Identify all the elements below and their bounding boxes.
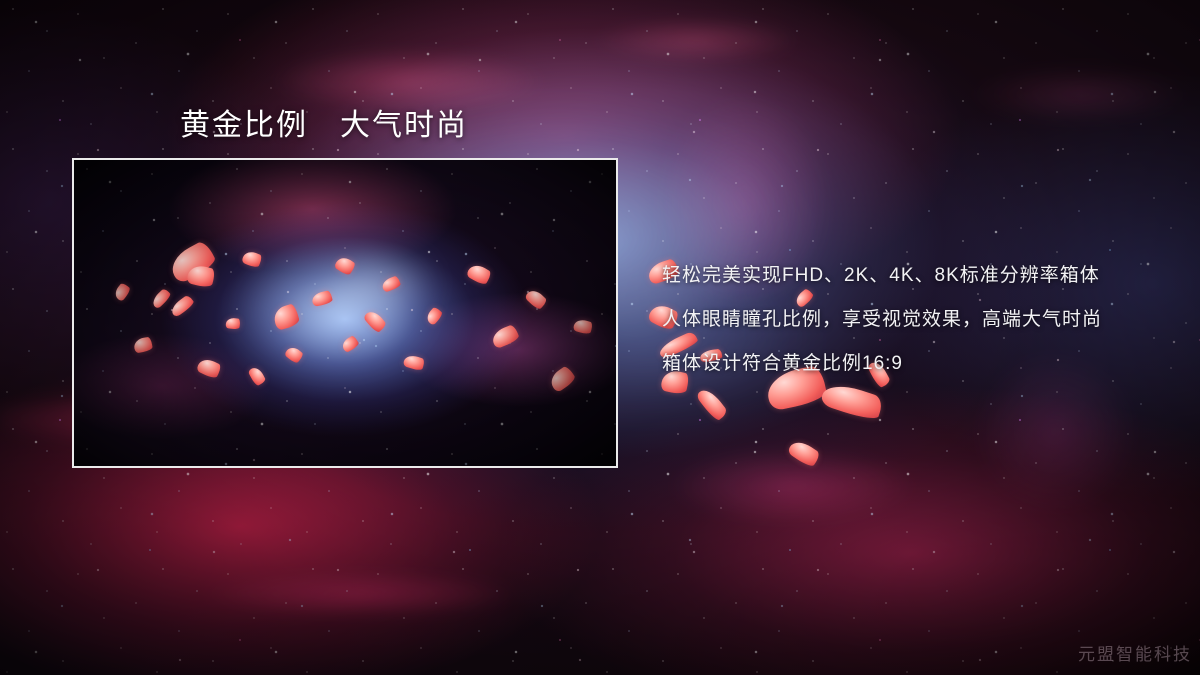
background-petal xyxy=(787,437,822,469)
slide-title: 黄金比例 大气时尚 xyxy=(180,100,468,144)
body-text-line: 人体眼睛瞳孔比例，享受视觉效果，高端大气时尚 xyxy=(662,298,1162,342)
body-text-line: 轻松完美实现FHD、2K、4K、8K标准分辨率箱体 xyxy=(662,254,1162,298)
frame-vignette xyxy=(74,160,616,466)
body-text-block: 轻松完美实现FHD、2K、4K、8K标准分辨率箱体 人体眼睛瞳孔比例，享受视觉效… xyxy=(662,254,1162,386)
body-text-line: 箱体设计符合黄金比例16:9 xyxy=(662,342,1162,386)
picture-frame-image xyxy=(74,160,616,466)
watermark-text: 元盟智能科技 xyxy=(1078,640,1192,665)
slide-canvas: 黄金比例 大气时尚 轻松完美实现FHD、2K、4K、8K标准分辨率箱体 人体眼睛… xyxy=(0,0,1200,675)
picture-frame xyxy=(72,158,618,468)
background-petal xyxy=(695,386,729,423)
